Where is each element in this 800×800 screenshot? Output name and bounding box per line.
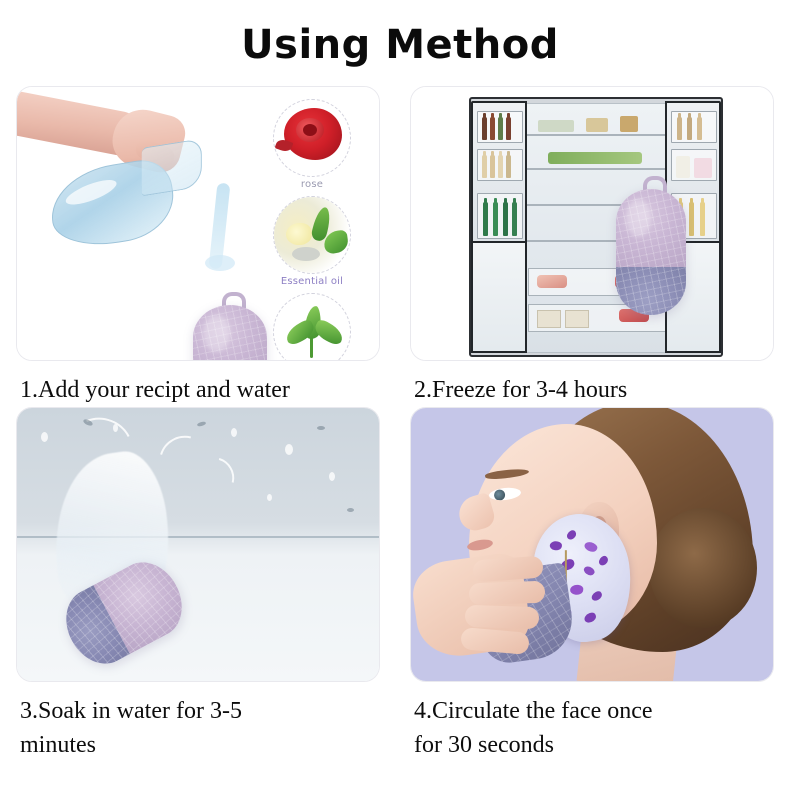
tea-stem — [310, 336, 313, 358]
oil-stone — [292, 247, 320, 261]
step-card-1: rose Essential oil — [16, 86, 396, 407]
fridge-item-jar — [620, 116, 638, 132]
step-2-image — [410, 86, 774, 361]
ice-roller-product — [193, 305, 267, 361]
panel-3-background — [17, 408, 379, 681]
step-4-caption: 4.Circulate the face once for 30 seconds — [414, 694, 774, 762]
ingredient-label-rose: rose — [262, 179, 362, 190]
fridge-item-meat — [537, 275, 567, 288]
oil-flower — [286, 223, 312, 245]
step-card-2: 2.Freeze for 3-4 hours — [404, 86, 784, 407]
fridge-bottle — [503, 202, 508, 236]
ice-roller-product — [616, 189, 686, 315]
water-droplet — [41, 432, 48, 442]
caption-line: for 30 seconds — [414, 728, 774, 762]
rose-center — [303, 124, 317, 136]
lavender-petal — [570, 584, 584, 596]
fridge-shelf — [524, 168, 670, 170]
fridge-lower-door-left[interactable] — [471, 241, 527, 353]
water-droplet-dark — [347, 508, 354, 512]
fridge-item-container — [538, 120, 574, 132]
fridge-bottle — [700, 202, 705, 236]
fridge-item-vegetables — [548, 152, 642, 164]
step-3-image — [16, 407, 380, 682]
green-tea-icon — [273, 293, 351, 361]
fridge-door-bin — [671, 149, 717, 181]
fridge-door-left[interactable] — [471, 101, 527, 245]
carafe-neck — [142, 138, 202, 196]
lavender-petal — [583, 540, 599, 554]
page-title: Using Method — [0, 0, 800, 66]
refrigerator — [469, 97, 723, 357]
panel-4-background — [411, 408, 773, 681]
water-droplet — [267, 494, 272, 501]
water-splash — [205, 255, 235, 271]
fridge-shelf — [524, 134, 670, 136]
fridge-bottle — [490, 117, 495, 140]
fridge-door-bin — [671, 111, 717, 143]
rose-icon — [273, 99, 351, 177]
step-2-caption: 2.Freeze for 3-4 hours — [414, 373, 774, 407]
fridge-bottle — [689, 202, 694, 236]
fridge-door-bin — [477, 149, 523, 181]
lavender-petal — [565, 529, 578, 541]
panel-2-background — [411, 87, 773, 360]
product-capsule — [193, 305, 267, 361]
fridge-item-package — [694, 158, 712, 178]
capsule-gloss — [203, 315, 230, 352]
product-capsule — [616, 189, 686, 315]
tea-leaf-right — [312, 318, 346, 347]
ingredient-essential-oil: Essential oil — [262, 196, 362, 287]
step-3-caption: 3.Soak in water for 3-5 minutes — [20, 694, 380, 762]
water-droplet — [231, 428, 237, 437]
hair-bun — [649, 508, 757, 628]
fridge-item-carton — [676, 156, 690, 178]
capsule-gloss — [626, 199, 651, 237]
finger — [469, 581, 546, 606]
water-droplet — [285, 444, 293, 455]
fridge-bottle — [483, 202, 488, 236]
caption-line: minutes — [20, 728, 380, 762]
step-4-image — [410, 407, 774, 682]
iris — [494, 489, 506, 501]
water-droplet-dark — [197, 421, 207, 427]
lavender-petal — [582, 564, 596, 577]
fridge-bottle — [482, 117, 487, 140]
ingredient-label-essential-oil: Essential oil — [262, 276, 362, 287]
fridge-bottle — [512, 202, 517, 236]
fridge-door-bin — [477, 193, 523, 239]
finger — [465, 605, 540, 630]
caption-line: 1.Add your recipt and water — [20, 373, 380, 407]
water-droplet-dark — [317, 426, 325, 430]
caption-line: 2.Freeze for 3-4 hours — [414, 373, 774, 407]
fridge-bottle — [677, 117, 682, 140]
step-1-image: rose Essential oil — [16, 86, 380, 361]
caption-line: 3.Soak in water for 3-5 — [20, 694, 380, 728]
lavender-petal — [583, 611, 597, 624]
lavender-petal — [590, 590, 603, 602]
ingredient-list: rose Essential oil — [259, 99, 365, 361]
caption-line: 4.Circulate the face once — [414, 694, 774, 728]
fridge-item-jar — [586, 118, 608, 132]
fridge-item-box — [537, 310, 561, 328]
fridge-bottle — [697, 117, 702, 140]
fridge-item-box — [565, 310, 589, 328]
step-card-3: 3.Soak in water for 3-5 minutes — [16, 407, 396, 762]
fridge-bottle — [490, 155, 495, 178]
lavender-petal — [549, 540, 563, 551]
ingredient-rose: rose — [262, 99, 362, 190]
fridge-bottle — [506, 117, 511, 140]
fridge-bottle — [687, 117, 692, 140]
fridge-bottle — [482, 155, 487, 178]
step-1-caption: 1.Add your recipt and water — [20, 373, 380, 407]
lavender-petal — [597, 555, 610, 567]
ingredient-green-tea: green tea — [262, 293, 362, 361]
steps-grid: rose Essential oil — [0, 86, 800, 762]
water-droplet — [329, 472, 335, 481]
step-card-4: 4.Circulate the face once for 30 seconds — [404, 407, 784, 762]
fridge-bottle — [498, 117, 503, 140]
fridge-bottle — [493, 202, 498, 236]
fridge-door-bin — [477, 111, 523, 143]
fridge-bottle — [506, 155, 511, 178]
essential-oil-icon — [273, 196, 351, 274]
fridge-bottle — [498, 155, 503, 178]
